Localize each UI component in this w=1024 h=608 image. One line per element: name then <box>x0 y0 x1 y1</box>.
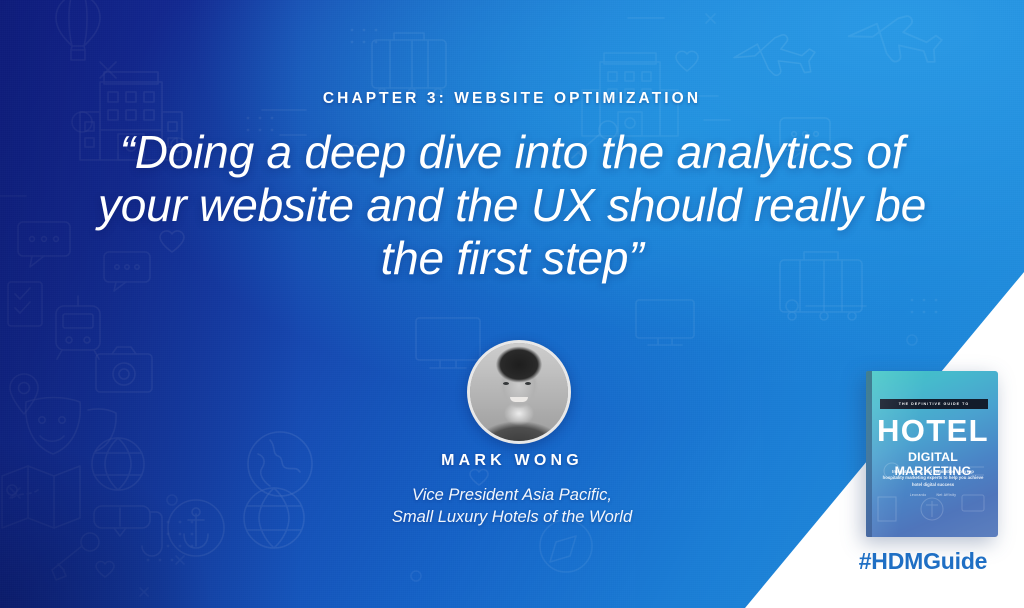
circle-icon <box>167 495 177 505</box>
compass-icon <box>540 520 592 572</box>
heart-icon <box>340 145 360 163</box>
circle-icon <box>72 112 92 132</box>
background-icon-pattern <box>0 0 1024 608</box>
heart-icon <box>676 51 698 71</box>
heart-icon <box>160 231 184 252</box>
anchor-icon <box>168 500 224 556</box>
hashtag: #HDMGuide <box>838 548 1008 575</box>
cross-icon <box>140 588 148 596</box>
chat-bubble-icon <box>780 118 830 160</box>
snorkel-mask-icon <box>94 506 162 556</box>
airplane-icon <box>732 26 817 82</box>
left-vignette <box>0 0 300 608</box>
bottom-left-vignette <box>0 348 420 608</box>
airplane-icon <box>846 1 946 74</box>
circle-icon <box>171 138 185 152</box>
monitor-icon <box>636 300 694 345</box>
heart-icon <box>470 470 488 485</box>
theater-masks-icon <box>26 398 116 455</box>
texture-overlay <box>0 0 1024 608</box>
signal-icon <box>262 110 306 135</box>
key-icon <box>572 121 617 158</box>
key-icon <box>52 533 99 580</box>
cross-icon <box>10 488 20 498</box>
book-author-1: Leonardo <box>910 493 927 497</box>
dot-grid <box>147 29 938 562</box>
globe-icon <box>92 438 144 490</box>
background-gradient-panel <box>0 0 1024 608</box>
globe-icon <box>244 488 304 548</box>
chat-bubble-icon <box>18 222 70 267</box>
monitor-icon <box>416 318 480 368</box>
circle-icon <box>786 300 798 312</box>
map-icon <box>2 466 80 528</box>
slide-canvas: CHAPTER 3: WEBSITE OPTIMIZATION “Doing a… <box>0 0 1024 608</box>
book-author-2: Net Affinity <box>936 493 956 497</box>
location-pin-icon <box>10 374 38 414</box>
globe-icon <box>248 432 312 496</box>
hotel-building-icon <box>582 53 678 136</box>
cross-icon <box>100 62 116 78</box>
book-blurb: Insights, ideas, and inspiration from to… <box>882 469 984 488</box>
hotel-building-icon <box>80 72 182 160</box>
camera-icon <box>96 347 152 392</box>
cross-icon <box>176 556 184 564</box>
circle-icon <box>907 335 917 345</box>
cross-icon <box>706 14 715 23</box>
suitcase-icon <box>780 252 862 320</box>
hot-air-balloon-icon <box>56 0 100 60</box>
book-authors: Leonardo Net Affinity <box>888 493 978 497</box>
checklist-icon <box>8 282 42 326</box>
chat-bubble-icon <box>104 252 150 291</box>
circle-icon <box>411 571 421 581</box>
suitcase-icon <box>372 33 446 96</box>
signal-icon <box>628 18 730 120</box>
heart-icon <box>96 562 114 577</box>
book-subtitle: DIGITAL MARKETING <box>874 450 992 478</box>
tram-icon <box>56 296 100 359</box>
